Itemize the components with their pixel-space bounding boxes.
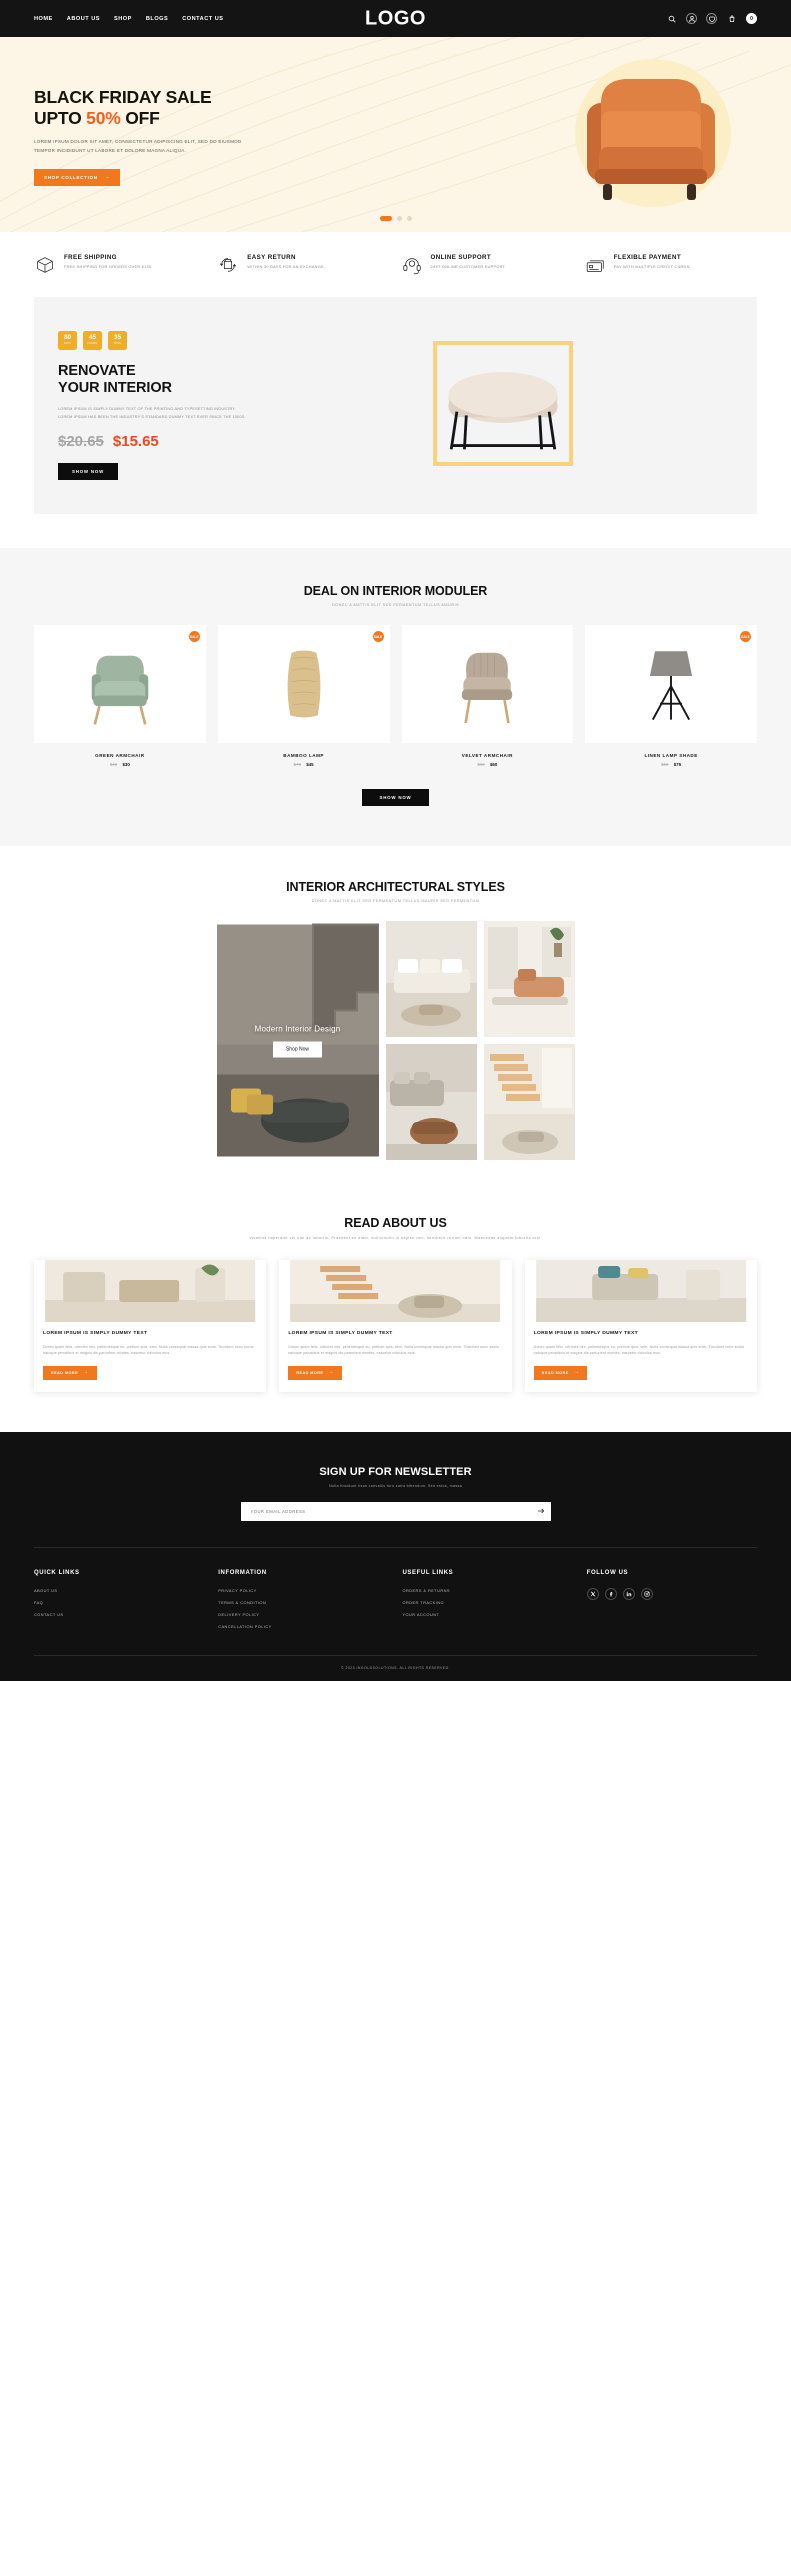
product-image[interactable] (402, 625, 574, 743)
living-room-image-3 (386, 1044, 477, 1160)
product-name: VELVET ARMCHAIR (402, 753, 574, 758)
footer-column-information: INFORMATION PRIVACY POLICY TERMS & CONDI… (218, 1570, 388, 1629)
cart-icon[interactable] (726, 13, 737, 24)
sale-badge: SALE (189, 631, 200, 642)
feature-title: EASY RETURN (247, 254, 325, 261)
blog-post-text: Donec quam felis, ultricies nec, pellent… (534, 1344, 748, 1357)
read-more-label: READ MORE (296, 1371, 323, 1375)
footer-link-faq[interactable]: FAQ (34, 1600, 204, 1605)
product-grid: SALE GREEN ARMCHAIR $40 $30 (34, 625, 757, 767)
return-box-icon (217, 254, 239, 276)
heart-icon[interactable] (706, 13, 717, 24)
product-card: SALE LINEN LAMP SHADE $90 $75 (585, 625, 757, 767)
nav-link-contact-us[interactable]: CONTACT US (182, 16, 223, 22)
nav-link-about-us[interactable]: ABOUT US (67, 16, 100, 22)
promo-description: LOREM IPSUM IS SIMPLY DUMMY TEXT OF THE … (58, 406, 250, 421)
product-card: SALE GREEN ARMCHAIR $40 $30 (34, 625, 206, 767)
shop-collection-button[interactable]: SHOP COLLECTION → (34, 169, 120, 186)
hero-off-text: OFF (121, 108, 160, 128)
newsletter-title: SIGN UP FOR NEWSLETTER (34, 1466, 757, 1478)
box-icon (34, 254, 56, 276)
footer-link-order-tracking[interactable]: ORDER TRACKING (403, 1600, 573, 1605)
copyright-text: © 2023 INGOLDSOLUTIONS. ALL RIGHTS RESER… (34, 1655, 757, 1681)
blog-card[interactable]: LOREM IPSUM IS SIMPLY DUMMY TEXT Donec q… (279, 1260, 511, 1392)
blog-header: READ ABOUT US Vivamus imperdiet vel nisl… (34, 1216, 757, 1242)
blog-card[interactable]: LOREM IPSUM IS SIMPLY DUMMY TEXT Donec q… (34, 1260, 266, 1392)
blog-image-1 (34, 1260, 266, 1322)
blog-grid: LOREM IPSUM IS SIMPLY DUMMY TEXT Donec q… (34, 1260, 757, 1392)
arrow-right-icon: → (105, 175, 111, 180)
read-more-label: READ MORE (542, 1371, 569, 1375)
feature-free-shipping: FREE SHIPPING FREE SHIPPING FOR ORDERS O… (34, 254, 207, 276)
living-room-image-1 (386, 921, 477, 1037)
living-room-image-2 (484, 921, 575, 1037)
deals-title: DEAL ON INTERIOR MODULER (34, 584, 757, 598)
product-old-price: $40 (110, 762, 117, 767)
footer-column-quick-links: QUICK LINKS ABOUT US FAQ CONTACT US (34, 1570, 204, 1629)
read-more-button[interactable]: READ MORE → (534, 1366, 588, 1380)
main-nav-links: HOME ABOUT US SHOP BLOGS CONTACT US (34, 16, 224, 22)
nav-icon-group: 0 (666, 13, 757, 24)
product-card: VELVET ARMCHAIR $90 $60 (402, 625, 574, 767)
promo-old-price: $20.65 (58, 433, 104, 450)
countdown-days-label: DAYS (64, 343, 71, 345)
footer-link-contact-us[interactable]: CONTACT US (34, 1612, 204, 1617)
newsletter-subtitle: Nulla tincidunt risus convallis turu zat… (34, 1484, 757, 1488)
countdown-hours-value: 45 (89, 335, 96, 341)
promo-text-block: 80 DAYS 45 HOURS 35 MINS RENOVATE YOUR I… (58, 331, 273, 481)
bamboo-lamp-illustration (264, 639, 344, 729)
deals-section: DEAL ON INTERIOR MODULER DONEC A MATTIS … (0, 548, 791, 846)
cart-count-badge[interactable]: 0 (746, 13, 757, 24)
countdown-hours: 45 HOURS (83, 331, 102, 350)
promo-show-now-button[interactable]: SHOW NOW (58, 463, 118, 480)
feature-text-block: FLEXIBLE PAYMENT PAY WITH MULTIPLE CREDI… (614, 254, 691, 271)
product-prices: $40 $30 (34, 762, 206, 767)
user-icon[interactable] (686, 13, 697, 24)
product-prices: $70 $45 (218, 762, 390, 767)
product-card: SALE BAMBOO LAMP $70 $45 (218, 625, 390, 767)
hero-text-block: BLACK FRIDAY SALE UPTO 50% OFF LOREM IPS… (34, 83, 334, 187)
homepage-root: HOME ABOUT US SHOP BLOGS CONTACT US LOGO… (0, 0, 791, 1681)
hero-armchair-image (535, 51, 765, 221)
countdown-timer: 80 DAYS 45 HOURS 35 MINS (58, 331, 273, 350)
blog-section: READ ABOUT US Vivamus imperdiet vel nisl… (0, 1190, 791, 1432)
feature-easy-return: EASY RETURN WITHIN 30 DAYS FOR AN EXCHAN… (217, 254, 390, 276)
product-image[interactable]: SALE (34, 625, 206, 743)
linkedin-icon[interactable] (623, 1588, 635, 1600)
gallery-subtitle: DONEC A MATTIS ELIT SED FERMENTUM TELLUS… (34, 899, 757, 903)
read-more-label: READ MORE (51, 1371, 78, 1375)
newsletter-email-input[interactable] (251, 1509, 534, 1514)
sale-badge: SALE (740, 631, 751, 642)
nav-link-blogs[interactable]: BLOGS (146, 16, 168, 22)
feature-text-block: FREE SHIPPING FREE SHIPPING FOR ORDERS O… (64, 254, 153, 271)
countdown-hours-label: HOURS (88, 343, 98, 345)
newsletter-form (241, 1502, 551, 1521)
blog-body: LOREM IPSUM IS SIMPLY DUMMY TEXT Donec q… (279, 1322, 511, 1392)
product-new-price: $60 (490, 762, 497, 767)
promo-headline-line2: YOUR INTERIOR (58, 380, 273, 397)
feature-title: FLEXIBLE PAYMENT (614, 254, 691, 261)
gallery-shop-now-button[interactable]: Shop Now (273, 1041, 322, 1057)
promo-section-wrapper: 80 DAYS 45 HOURS 35 MINS RENOVATE YOUR I… (0, 294, 791, 548)
renovate-promo-card: 80 DAYS 45 HOURS 35 MINS RENOVATE YOUR I… (34, 297, 757, 514)
hero-headline-line1: BLACK FRIDAY SALE (34, 87, 334, 108)
arrow-right-icon: → (328, 1370, 334, 1375)
green-armchair-illustration (78, 638, 162, 730)
read-more-button[interactable]: READ MORE → (43, 1366, 97, 1380)
gallery-tile[interactable] (484, 1044, 575, 1160)
product-prices: $90 $75 (585, 762, 757, 767)
arrow-right-icon (537, 1507, 545, 1515)
product-old-price: $70 (294, 762, 301, 767)
newsletter-block: SIGN UP FOR NEWSLETTER Nulla tincidunt r… (34, 1466, 757, 1521)
footer-link-privacy-policy[interactable]: PRIVACY POLICY (218, 1588, 388, 1593)
footer-link-cancellation-policy[interactable]: CANCELLATION POLICY (218, 1624, 388, 1629)
hero-banner: BLACK FRIDAY SALE UPTO 50% OFF LOREM IPS… (0, 37, 791, 232)
nav-link-home[interactable]: HOME (34, 16, 53, 22)
hero-upto-text: UPTO (34, 108, 86, 128)
promo-headline: RENOVATE YOUR INTERIOR (58, 363, 273, 398)
gallery-tile[interactable] (386, 921, 477, 1037)
promo-headline-line1: RENOVATE (58, 363, 273, 380)
product-name: GREEN ARMCHAIR (34, 753, 206, 758)
read-more-button[interactable]: READ MORE → (288, 1366, 342, 1380)
footer-column-useful-links: USEFUL LINKS ORDERS & RETURNS ORDER TRAC… (403, 1570, 573, 1629)
product-image[interactable]: SALE (585, 625, 757, 743)
blog-post-text: Donec quam felis, ultricies nec, pellent… (43, 1344, 257, 1357)
linen-lamp-shade-illustration (631, 636, 711, 732)
promo-image-area (273, 323, 733, 488)
top-navigation-bar: HOME ABOUT US SHOP BLOGS CONTACT US LOGO… (0, 0, 791, 37)
countdown-mins-label: MINS (114, 343, 121, 345)
gallery-title: INTERIOR ARCHITECTURAL STYLES (34, 880, 757, 894)
gallery-overlay: Modern Interior Design Shop Now (217, 1024, 379, 1057)
product-name: BAMBOO LAMP (218, 753, 390, 758)
footer-link-terms-condition[interactable]: TERMS & CONDITION (218, 1600, 388, 1605)
facebook-icon[interactable] (605, 1588, 617, 1600)
blog-post-title: LOREM IPSUM IS SIMPLY DUMMY TEXT (43, 1331, 257, 1338)
gallery-grid: Modern Interior Design Shop Now (34, 921, 757, 1160)
feature-text-block: ONLINE SUPPORT 24X7 ONLINE CUSTOMER SUPP… (431, 254, 507, 271)
footer-column-follow-us: FOLLOW US (587, 1570, 757, 1629)
promo-ottoman-image (423, 340, 583, 472)
feature-description: FREE SHIPPING FOR ORDERS OVER £130. (64, 264, 153, 271)
instagram-icon[interactable] (641, 1588, 653, 1600)
feature-description: 24X7 ONLINE CUSTOMER SUPPORT. (431, 264, 507, 271)
footer-link-list: PRIVACY POLICY TERMS & CONDITION DELIVER… (218, 1588, 388, 1629)
product-name: LINEN LAMP SHADE (585, 753, 757, 758)
deals-subtitle: DONEC A MATTIS ELIT SED FERMENTUM TELLUS… (34, 603, 757, 607)
features-bar: FREE SHIPPING FREE SHIPPING FOR ORDERS O… (0, 232, 791, 294)
countdown-days: 80 DAYS (58, 331, 77, 350)
site-logo[interactable]: LOGO (365, 7, 426, 30)
promo-new-price: $15.65 (113, 433, 159, 450)
x-icon[interactable] (587, 1588, 599, 1600)
countdown-days-value: 80 (64, 335, 71, 341)
blog-subtitle: Vivamus imperdiet vel nisl ac lobortis. … (231, 1235, 561, 1242)
feature-text-block: EASY RETURN WITHIN 30 DAYS FOR AN EXCHAN… (247, 254, 325, 271)
footer-link-your-account[interactable]: YOUR ACCOUNT (403, 1612, 573, 1617)
footer-column-title: USEFUL LINKS (403, 1570, 573, 1576)
footer-link-about-us[interactable]: ABOUT US (34, 1588, 204, 1593)
search-icon[interactable] (666, 13, 677, 24)
promo-price-row: $20.65 $15.65 (58, 433, 273, 450)
countdown-mins: 35 MINS (108, 331, 127, 350)
footer-link-orders-returns[interactable]: ORDERS & RETURNS (403, 1588, 573, 1593)
site-footer: SIGN UP FOR NEWSLETTER Nulla tincidunt r… (0, 1432, 791, 1681)
gallery-header: INTERIOR ARCHITECTURAL STYLES DONEC A MA… (34, 880, 757, 903)
footer-link-list: ABOUT US FAQ CONTACT US (34, 1588, 204, 1617)
arrow-right-icon: → (574, 1370, 580, 1375)
hero-headline-line2: UPTO 50% OFF (34, 108, 334, 129)
product-new-price: $75 (674, 762, 681, 767)
hero-headline: BLACK FRIDAY SALE UPTO 50% OFF (34, 87, 334, 130)
footer-column-title: INFORMATION (218, 1570, 388, 1576)
blog-image (279, 1260, 511, 1322)
sale-badge: SALE (373, 631, 384, 642)
product-new-price: $30 (122, 762, 129, 767)
countdown-mins-value: 35 (114, 335, 121, 341)
staircase-image (484, 1044, 575, 1160)
blog-body: LOREM IPSUM IS SIMPLY DUMMY TEXT Donec q… (525, 1322, 757, 1392)
hero-description: LOREM IPSUM DOLOR SIT AMET, CONSECTETUR … (34, 138, 246, 156)
shop-collection-label: SHOP COLLECTION (44, 175, 98, 180)
product-prices: $90 $60 (402, 762, 574, 767)
blog-post-title: LOREM IPSUM IS SIMPLY DUMMY TEXT (288, 1331, 502, 1338)
feature-description: PAY WITH MULTIPLE CREDIT CARDS. (614, 264, 691, 271)
feature-description: WITHIN 30 DAYS FOR AN EXCHANGE. (247, 264, 325, 271)
product-image[interactable]: SALE (218, 625, 390, 743)
blog-image-2 (279, 1260, 511, 1322)
product-old-price: $90 (661, 762, 668, 767)
deals-header: DEAL ON INTERIOR MODULER DONEC A MATTIS … (34, 584, 757, 607)
blog-image-3 (525, 1260, 757, 1322)
deals-show-now-button[interactable]: SHOW NOW (362, 789, 428, 806)
carousel-dot-1[interactable] (380, 216, 392, 221)
feature-flexible-payment: FLEXIBLE PAYMENT PAY WITH MULTIPLE CREDI… (584, 254, 757, 276)
gallery-feature-title: Modern Interior Design (217, 1024, 379, 1033)
blog-post-title: LOREM IPSUM IS SIMPLY DUMMY TEXT (534, 1331, 748, 1338)
footer-columns: QUICK LINKS ABOUT US FAQ CONTACT US INFO… (34, 1548, 757, 1655)
footer-column-title: QUICK LINKS (34, 1570, 204, 1576)
deals-cta-wrapper: SHOW NOW (34, 789, 757, 806)
hero-discount-percent: 50% (86, 108, 120, 128)
blog-card[interactable]: LOREM IPSUM IS SIMPLY DUMMY TEXT Donec q… (525, 1260, 757, 1392)
feature-title: ONLINE SUPPORT (431, 254, 507, 261)
carousel-dot-2[interactable] (397, 216, 402, 221)
blog-body: LOREM IPSUM IS SIMPLY DUMMY TEXT Donec q… (34, 1322, 266, 1392)
headset-icon (401, 254, 423, 276)
carousel-dot-3[interactable] (407, 216, 412, 221)
blog-image (525, 1260, 757, 1322)
footer-link-list: ORDERS & RETURNS ORDER TRACKING YOUR ACC… (403, 1588, 573, 1617)
footer-column-title: FOLLOW US (587, 1570, 757, 1576)
product-old-price: $90 (477, 762, 484, 767)
gallery-section: INTERIOR ARCHITECTURAL STYLES DONEC A MA… (0, 846, 791, 1190)
credit-card-icon (584, 254, 606, 276)
social-links (587, 1588, 757, 1600)
blog-post-text: Donec quam felis, ultricies nec, pellent… (288, 1344, 502, 1357)
gallery-feature-tile[interactable]: Modern Interior Design Shop Now (217, 921, 379, 1160)
feature-title: FREE SHIPPING (64, 254, 153, 261)
feature-online-support: ONLINE SUPPORT 24X7 ONLINE CUSTOMER SUPP… (401, 254, 574, 276)
velvet-armchair-illustration (445, 638, 529, 730)
newsletter-submit-button[interactable] (534, 1504, 548, 1518)
blog-image (34, 1260, 266, 1322)
gallery-tile[interactable] (386, 1044, 477, 1160)
arrow-right-icon: → (83, 1370, 89, 1375)
footer-link-delivery-policy[interactable]: DELIVERY POLICY (218, 1612, 388, 1617)
nav-link-shop[interactable]: SHOP (114, 16, 132, 22)
hero-carousel-dots (380, 216, 412, 221)
product-new-price: $45 (306, 762, 313, 767)
blog-title: READ ABOUT US (34, 1216, 757, 1230)
gallery-tile[interactable] (484, 921, 575, 1037)
